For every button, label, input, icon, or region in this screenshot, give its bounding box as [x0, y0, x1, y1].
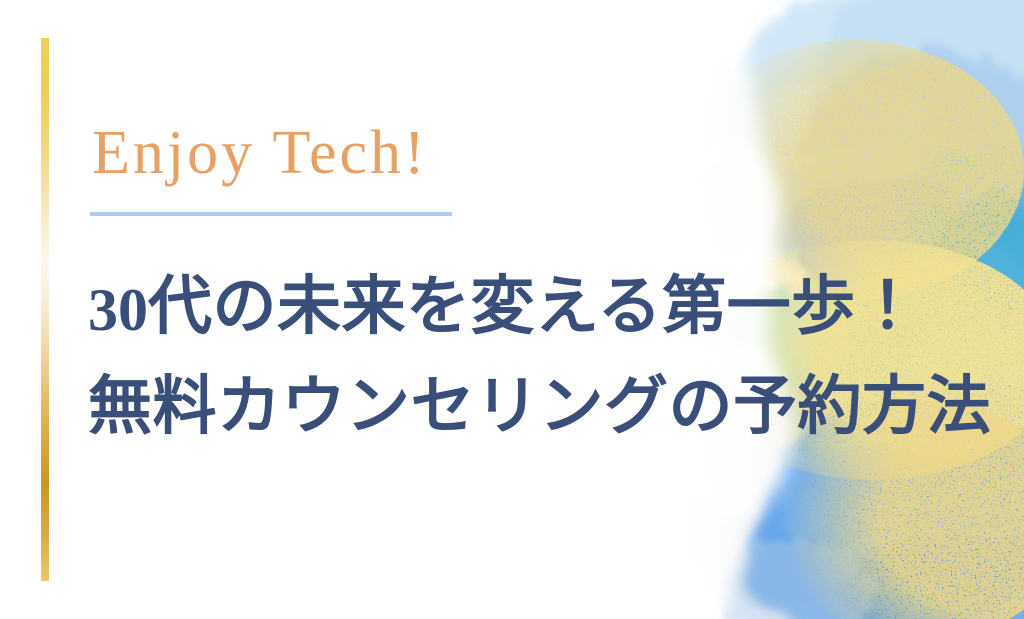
gold-accent-bar — [41, 38, 49, 581]
headline: 30代の未来を変える第一歩！ 無料カウンセリングの予約方法 — [88, 258, 1018, 454]
headline-line-1: 30代の未来を変える第一歩！ — [88, 258, 1018, 358]
headline-line-1-text: 代の未来を変える第一歩！ — [148, 270, 920, 342]
divider-rule — [90, 212, 452, 216]
eyecatch-canvas: Enjoy Tech! 30代の未来を変える第一歩！ 無料カウンセリングの予約方… — [0, 0, 1024, 619]
headline-lead-number: 30 — [88, 277, 148, 343]
headline-line-2: 無料カウンセリングの予約方法 — [88, 358, 1018, 454]
headline-line-2-text: 無料カウンセリングの予約方法 — [88, 370, 991, 442]
eyebrow-title: Enjoy Tech! — [92, 122, 428, 184]
